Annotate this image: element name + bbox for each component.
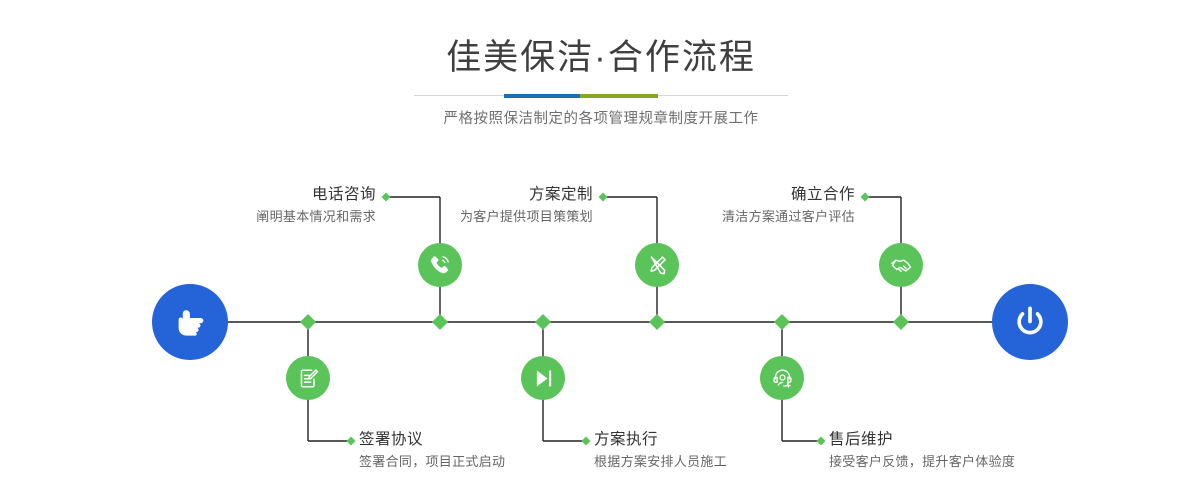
play-skip-icon <box>531 366 556 391</box>
page-header: 佳美保洁·合作流程 严格按照保洁制定的各项管理规章制度开展工作 <box>0 0 1202 130</box>
step-icon-sign-agreement[interactable] <box>286 356 330 400</box>
leader-diamond-top-1 <box>382 193 391 202</box>
leader-diamond-bottom-3 <box>817 437 826 446</box>
step-label-plan-custom: 方案定制 为客户提供项目策策划 <box>460 184 593 227</box>
axis-diamond-4 <box>649 314 665 330</box>
process-flow: 电话咨询 阐明基本情况和需求 方案定制 为客户提供项目策策划 确立合作 清洁方案… <box>0 150 1202 502</box>
step-desc: 接受客户反馈，提升客户体验度 <box>829 452 1015 472</box>
leader-diamond-top-2 <box>599 193 608 202</box>
axis-diamond-1 <box>300 314 316 330</box>
page-subtitle: 严格按照保洁制定的各项管理规章制度开展工作 <box>0 108 1202 130</box>
pointing-hand-icon <box>169 301 211 343</box>
leader-diamond-top-3 <box>861 193 870 202</box>
flow-chart-page: 佳美保洁·合作流程 严格按照保洁制定的各项管理规章制度开展工作 <box>0 0 1202 502</box>
axis-diamond-6 <box>893 314 909 330</box>
divider-segment-blue <box>504 94 580 98</box>
page-title: 佳美保洁·合作流程 <box>0 0 1202 80</box>
step-icon-establish-cooperation[interactable] <box>879 243 923 287</box>
step-icon-plan-execute[interactable] <box>521 356 565 400</box>
leader-diamond-bottom-1 <box>347 437 356 446</box>
step-title: 售后维护 <box>829 429 1015 450</box>
step-icon-phone-consult[interactable] <box>418 243 462 287</box>
end-node[interactable] <box>992 284 1068 360</box>
step-label-phone-consult: 电话咨询 阐明基本情况和需求 <box>256 184 376 227</box>
axis-diamond-3 <box>535 314 551 330</box>
divider-segment-green <box>580 94 658 98</box>
step-icon-after-sales[interactable] <box>760 356 804 400</box>
axis-diamond-2 <box>432 314 448 330</box>
document-edit-icon <box>296 366 321 391</box>
step-desc: 清洁方案通过客户评估 <box>722 207 855 227</box>
step-desc: 签署合同，项目正式启动 <box>359 452 505 472</box>
step-title: 方案定制 <box>460 184 593 205</box>
step-title: 方案执行 <box>594 429 727 450</box>
power-icon <box>1009 301 1051 343</box>
step-title: 签署协议 <box>359 429 505 450</box>
axis-diamond-5 <box>774 314 790 330</box>
step-label-establish-cooperation: 确立合作 清洁方案通过客户评估 <box>722 184 855 227</box>
start-node[interactable] <box>152 284 228 360</box>
phone-call-icon <box>427 252 453 278</box>
step-label-plan-execute: 方案执行 根据方案安排人员施工 <box>594 429 727 472</box>
step-label-sign-agreement: 签署协议 签署合同，项目正式启动 <box>359 429 505 472</box>
step-title: 电话咨询 <box>256 184 376 205</box>
step-icon-plan-custom[interactable] <box>635 243 679 287</box>
pencil-design-icon <box>644 252 670 278</box>
step-desc: 根据方案安排人员施工 <box>594 452 727 472</box>
step-desc: 为客户提供项目策策划 <box>460 207 593 227</box>
step-desc: 阐明基本情况和需求 <box>256 207 376 227</box>
handshake-icon <box>888 252 915 279</box>
step-label-after-sales: 售后维护 接受客户反馈，提升客户体验度 <box>829 429 1015 472</box>
step-title: 确立合作 <box>722 184 855 205</box>
leader-diamond-bottom-2 <box>582 437 591 446</box>
title-divider <box>414 94 788 98</box>
customer-service-icon <box>770 366 795 391</box>
